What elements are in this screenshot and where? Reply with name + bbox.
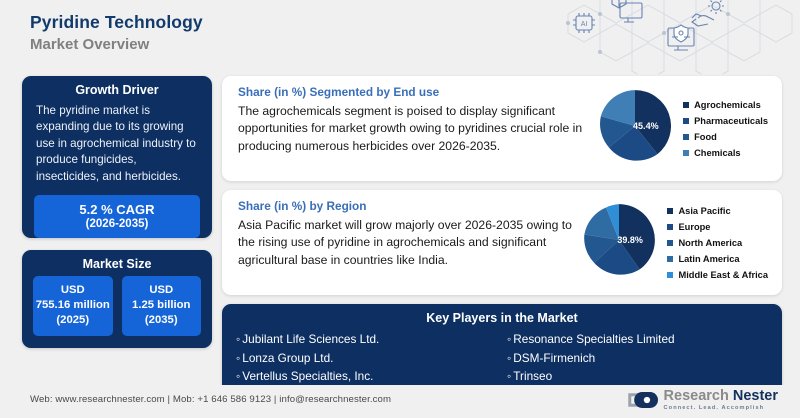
logo-tagline: Connect. Lead. Accomplish [664, 406, 778, 412]
region-chart-area: 39.8% Asia Pacific Europe North America [580, 199, 768, 284]
key-player-item: Jubilant Life Sciences Ltd. [236, 330, 507, 349]
market-size-card: Market Size USD 755.16 million (2025) US… [22, 250, 212, 348]
region-pie-chart: 39.8% [580, 201, 658, 284]
end-use-chart-area: 45.4% Agrochemicals Pharmaceuticals Food [596, 85, 768, 170]
legend-label: Asia Pacific [678, 206, 730, 216]
key-players-columns: Jubilant Life Sciences Ltd. Lonza Group … [222, 330, 782, 386]
region-text: Share (in %) by Region Asia Pacific mark… [238, 199, 580, 269]
market-size-value: 1.25 billion [124, 298, 200, 313]
end-use-body: The agrochemicals segment is poised to d… [238, 103, 590, 155]
region-card: Share (in %) by Region Asia Pacific mark… [222, 190, 782, 295]
infographic-page: AI Pyridine Technology Market Over [0, 0, 800, 418]
key-player-item: Vertellus Specialties, Inc. [236, 367, 507, 386]
growth-driver-card: Growth Driver The pyridine market is exp… [22, 76, 212, 238]
market-size-value: 755.16 million [35, 298, 111, 313]
legend-item: North America [667, 238, 768, 248]
legend-label: Chemicals [694, 148, 741, 158]
key-player-item: Resonance Specialties Limited [507, 330, 778, 349]
left-column: Growth Driver The pyridine market is exp… [22, 76, 212, 348]
key-player-item: Lonza Group Ltd. [236, 349, 507, 368]
market-size-currency: USD [35, 283, 111, 298]
legend-label: North America [678, 238, 742, 248]
right-column: Share (in %) Segmented by End use The ag… [222, 76, 782, 395]
key-players-card: Key Players in the Market Jubilant Life … [222, 304, 782, 395]
legend-label: Pharmaceuticals [694, 116, 768, 126]
chain-link-icon [628, 390, 658, 410]
footer-bar: Web: www.researchnester.com | Mob: +1 64… [0, 385, 800, 418]
legend-item: Middle East & Africa [667, 270, 768, 280]
legend-swatch [667, 208, 673, 214]
logo-text-block: Research Nester Connect. Lead. Accomplis… [664, 389, 778, 411]
market-size-currency: USD [124, 283, 200, 298]
legend-label: Food [694, 132, 717, 142]
logo-name: Research Nester [664, 389, 778, 404]
legend-swatch [667, 224, 673, 230]
market-size-box: USD 755.16 million (2025) [33, 276, 113, 336]
legend-swatch [667, 256, 673, 262]
footer-contact: Web: www.researchnester.com | Mob: +1 64… [30, 394, 391, 405]
region-heading: Share (in %) by Region [238, 199, 574, 213]
research-nester-logo: Research Nester Connect. Lead. Accomplis… [628, 389, 778, 411]
legend-label: Agrochemicals [694, 100, 761, 110]
legend-label: Middle East & Africa [678, 270, 768, 280]
cagr-badge: 5.2 % CAGR (2026-2035) [34, 195, 200, 238]
end-use-text: Share (in %) Segmented by End use The ag… [238, 85, 596, 155]
logo-research: Research [664, 388, 729, 404]
hexagon-tech-decoration: AI [550, 0, 800, 74]
region-pie-value-label: 39.8% [617, 235, 643, 245]
legend-swatch [667, 240, 673, 246]
legend-item: Europe [667, 222, 768, 232]
ai-chip-icon: AI [573, 13, 595, 33]
market-size-values: USD 755.16 million (2025) USD 1.25 billi… [22, 276, 212, 336]
logo-nester: Nester [733, 388, 778, 404]
legend-swatch [683, 134, 689, 140]
legend-swatch [683, 102, 689, 108]
key-player-item: DSM-Firmenich [507, 349, 778, 368]
legend-swatch [667, 272, 673, 278]
legend-item: Chemicals [683, 148, 768, 158]
svg-text:AI: AI [581, 21, 588, 28]
growth-driver-body: The pyridine market is expanding due to … [22, 102, 212, 195]
legend-label: Europe [678, 222, 710, 232]
region-legend: Asia Pacific Europe North America Latin … [667, 206, 768, 280]
end-use-card: Share (in %) Segmented by End use The ag… [222, 76, 782, 181]
legend-swatch [683, 118, 689, 124]
legend-swatch [683, 150, 689, 156]
key-player-item: Trinseo [507, 367, 778, 386]
page-subtitle: Market Overview [30, 36, 203, 53]
market-size-year: (2025) [35, 313, 111, 328]
market-size-heading: Market Size [22, 250, 212, 276]
cagr-value: 5.2 % CAGR [38, 202, 196, 217]
end-use-legend: Agrochemicals Pharmaceuticals Food Chemi… [683, 100, 768, 158]
market-size-year: (2035) [124, 313, 200, 328]
legend-item: Food [683, 132, 768, 142]
cagr-period: (2026-2035) [38, 218, 196, 230]
region-body: Asia Pacific market will grow majorly ov… [238, 217, 574, 269]
end-use-heading: Share (in %) Segmented by End use [238, 85, 590, 99]
key-players-column-right: Resonance Specialties Limited DSM-Firmen… [507, 330, 778, 386]
legend-item: Agrochemicals [683, 100, 768, 110]
key-players-column-left: Jubilant Life Sciences Ltd. Lonza Group … [236, 330, 507, 386]
legend-item: Latin America [667, 254, 768, 264]
legend-item: Pharmaceuticals [683, 116, 768, 126]
legend-item: Asia Pacific [667, 206, 768, 216]
page-title: Pyridine Technology [30, 12, 203, 33]
key-players-heading: Key Players in the Market [222, 304, 782, 330]
market-size-box: USD 1.25 billion (2035) [122, 276, 202, 336]
page-header: Pyridine Technology Market Overview [30, 12, 203, 53]
legend-label: Latin America [678, 254, 739, 264]
end-use-pie-value-label: 45.4% [633, 121, 659, 131]
growth-driver-heading: Growth Driver [22, 76, 212, 102]
end-use-pie-chart: 45.4% [596, 87, 674, 170]
